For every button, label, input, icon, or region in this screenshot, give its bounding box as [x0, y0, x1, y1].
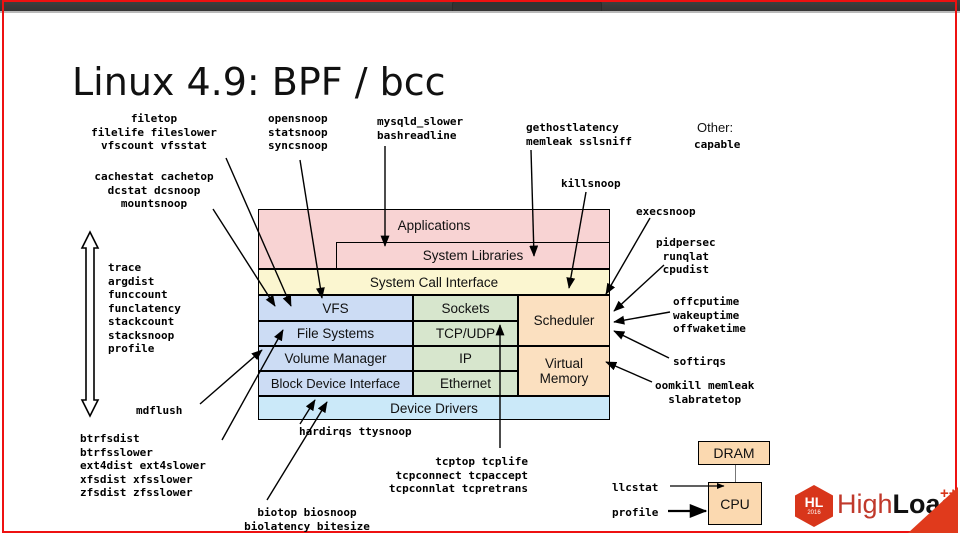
arrow-mdflush-to-volume-manager — [200, 350, 262, 404]
logo-word-high: High — [837, 489, 893, 519]
logo-badge-text: HL — [805, 495, 824, 509]
arrow-fsdist-to-file-systems — [222, 330, 283, 440]
arrow-gethostlatency-to-syslib — [531, 150, 534, 256]
arrow-pidpersec-to-scheduler — [614, 265, 664, 311]
arrow-oomkill-to-virtual-memory — [606, 362, 652, 382]
arrow-dynamic-tracing-range — [82, 232, 98, 416]
logo-badge-year: 2016 — [807, 510, 820, 517]
slide-screen: Linux 4.9: BPF / bcc filetop filelife fi… — [0, 0, 960, 540]
arrow-offcputime-to-scheduler — [614, 312, 670, 322]
arrow-opensnoop-to-vfs — [300, 160, 322, 298]
logo-hex-badge: HL 2016 — [795, 485, 833, 527]
corner-triangle-decoration — [908, 487, 958, 533]
arrow-cachestat-to-vfs — [213, 209, 275, 306]
arrow-biotop-to-block-device — [267, 402, 327, 500]
arrow-softirqs-to-scheduler — [614, 331, 669, 358]
arrow-execsnoop-to-scheduler — [606, 218, 650, 294]
arrow-hardirqs-to-device-drivers — [300, 400, 315, 424]
arrow-killsnoop-to-syscall — [569, 192, 586, 288]
arrow-filetop-to-vfs — [226, 158, 291, 306]
arrow-layer — [0, 0, 960, 540]
